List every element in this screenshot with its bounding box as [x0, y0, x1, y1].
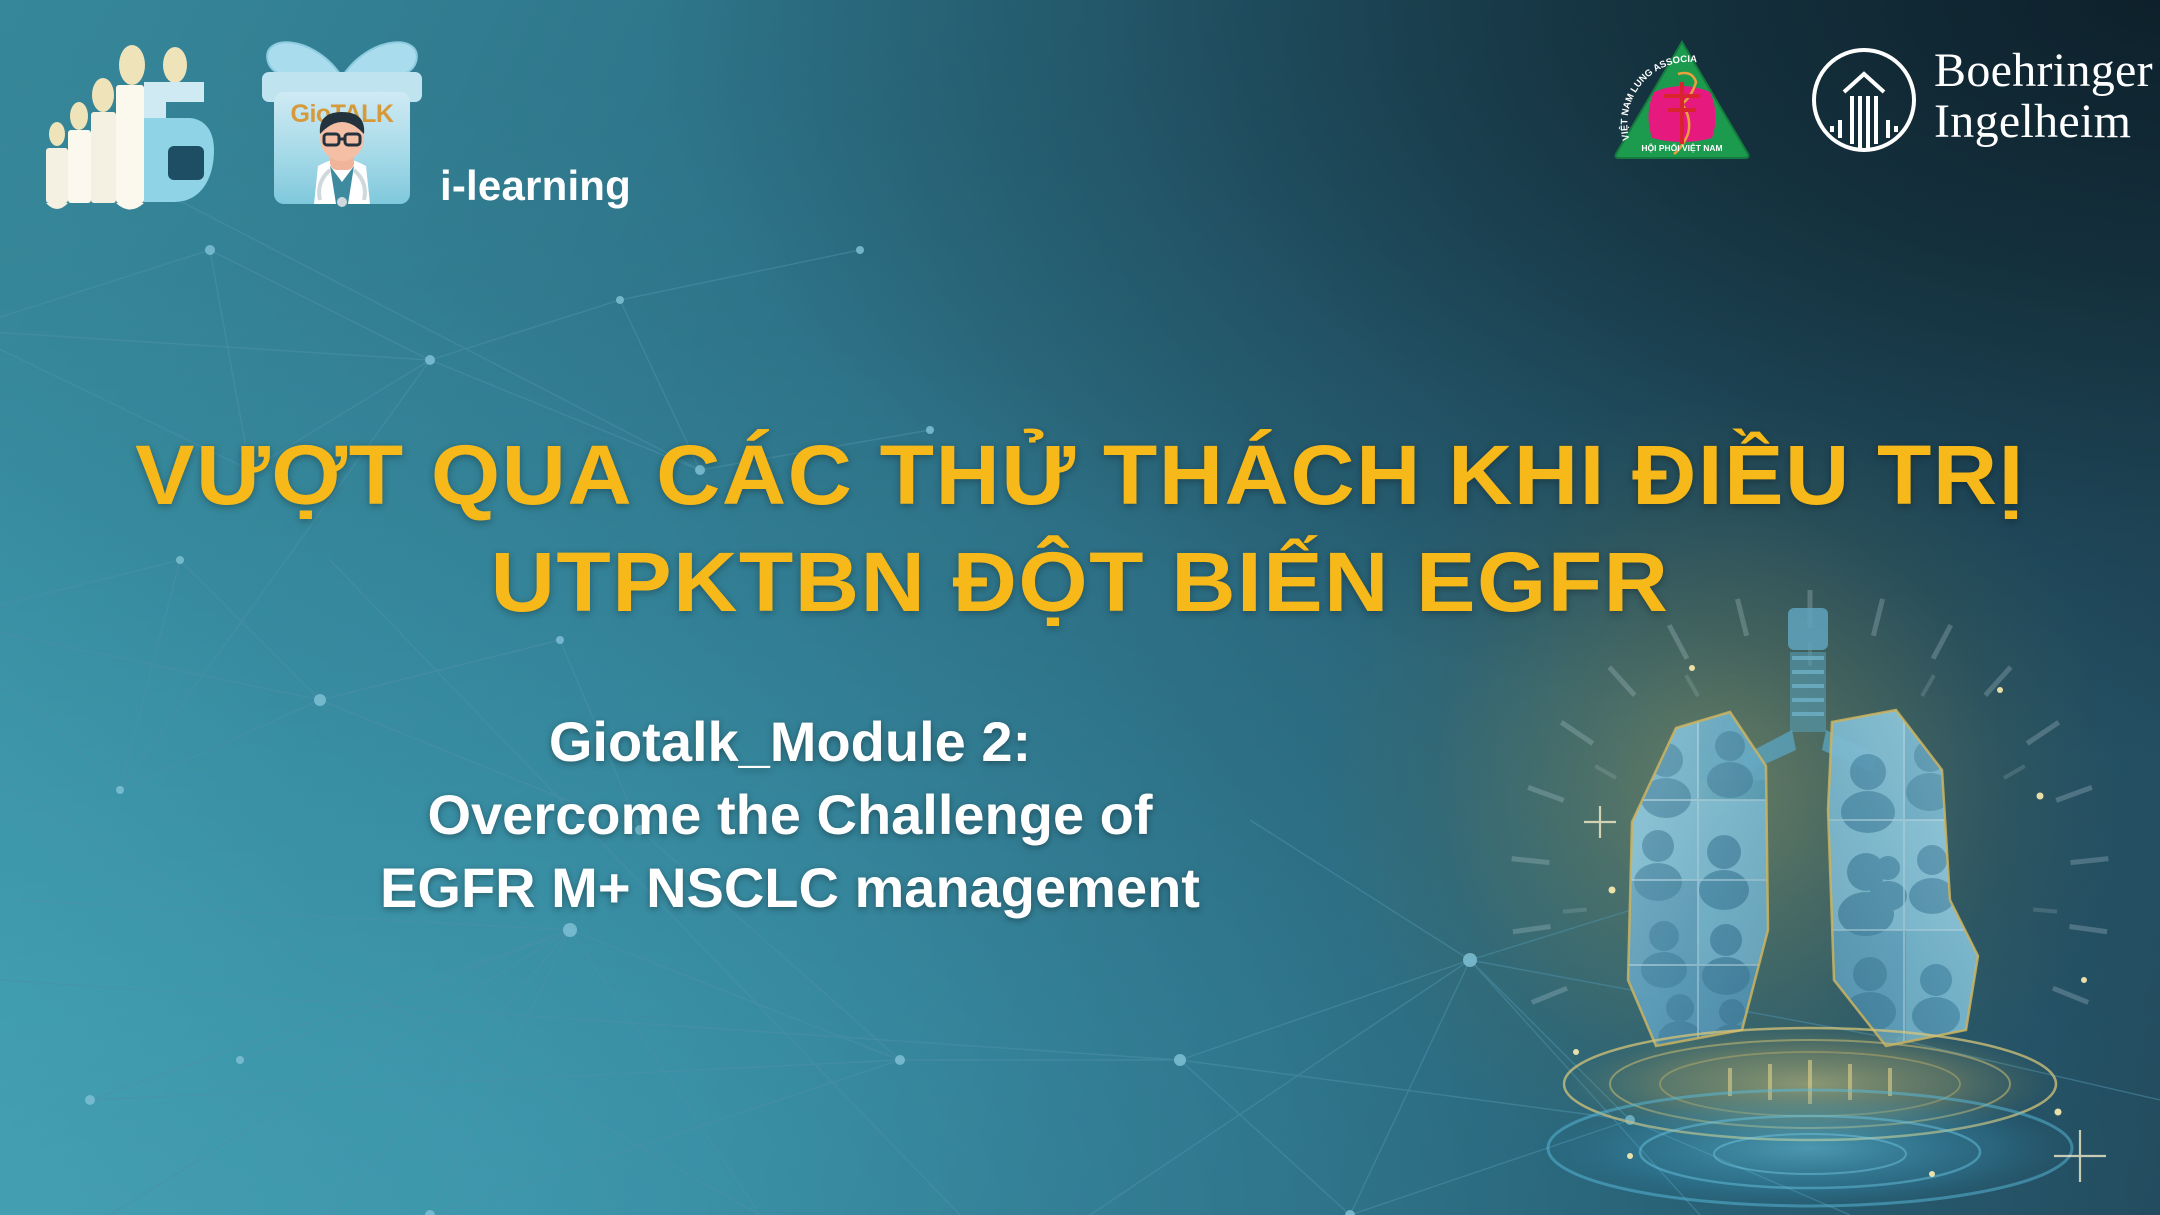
svg-text:HỘI PHỔI VIỆT NAM: HỘI PHỔI VIỆT NAM — [1641, 142, 1722, 153]
title-line-1: VƯỢT QUA CÁC THỬ THÁCH KHI ĐIỀU TRỊ — [0, 430, 2160, 521]
subtitle-line-1: Giotalk_Module 2: — [110, 706, 1470, 779]
candles-five-icon — [32, 30, 222, 210]
header-bar: GioTALK i-learning — [0, 0, 2160, 210]
bi-word-line2: Ingelheim — [1934, 97, 2153, 148]
subtitle-line-2: Overcome the Challenge of — [110, 779, 1470, 852]
subtitle-line-3: EGFR M+ NSCLC management — [110, 852, 1470, 925]
brand-label-ilearning: i-learning — [440, 162, 631, 210]
lung-hologram-illustration — [1480, 560, 2160, 1215]
page-subtitle: Giotalk_Module 2: Overcome the Challenge… — [110, 706, 1470, 924]
bi-word-line1: Boehringer — [1934, 46, 2153, 97]
boehringer-ingelheim-icon — [1808, 44, 1920, 156]
giotalk-gift-box-icon: GioTALK — [252, 30, 432, 210]
boehringer-ingelheim-wordmark: Boehringer Ingelheim — [1934, 46, 2153, 148]
vietnam-lung-association-icon: VIỆT NAM LUNG ASSOCIATION HỘI PHỔI VIỆT … — [1612, 38, 1752, 160]
slide-root: GioTALK i-learning — [0, 0, 2160, 1215]
boehringer-ingelheim-logo: Boehringer Ingelheim — [1808, 40, 2108, 162]
